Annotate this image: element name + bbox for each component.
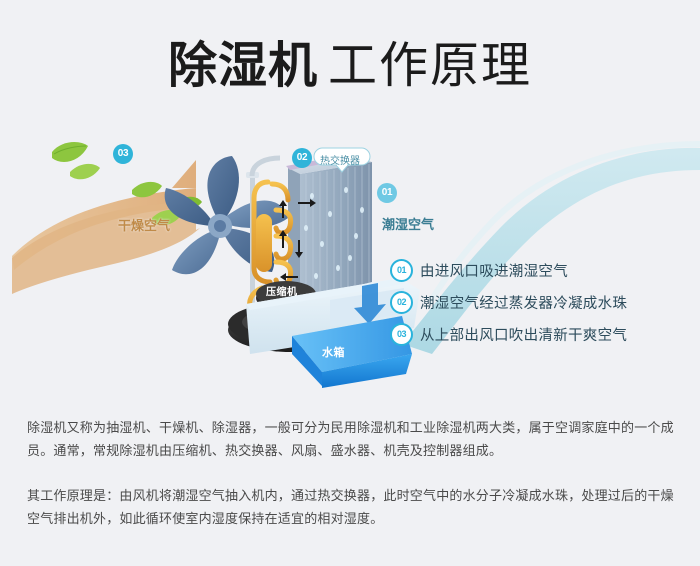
list-item: 01 由进风口吸进潮湿空气 [390,254,680,286]
heat-exchanger-block [288,156,372,300]
legend-text-02: 潮湿空气经过蒸发器冷凝成水珠 [420,292,627,313]
legend-list: 01 由进风口吸进潮湿空气 02 潮湿空气经过蒸发器冷凝成水珠 03 从上部出风… [390,254,680,350]
paragraph-1: 除湿机又称为抽湿机、干燥机、除湿器，一般可分为民用除湿机和工业除湿机两大类，属于… [27,416,677,462]
legend-badge-01: 01 [390,259,413,282]
description-section: 除湿机又称为抽湿机、干燥机、除湿器，一般可分为民用除湿机和工业除湿机两大类，属于… [27,416,677,530]
label-heat-exchanger: 热交换器 [320,152,360,167]
label-water-tank: 水箱 [322,344,345,360]
list-item: 02 潮湿空气经过蒸发器冷凝成水珠 [390,286,680,318]
diagram-badge-02: 02 [292,148,312,168]
diagram-badge-03: 03 [113,144,133,164]
list-item: 03 从上部出风口吹出清新干爽空气 [390,318,680,350]
label-compressor: 压缩机 [266,283,298,298]
page-title-light: 工作原理 [328,39,532,93]
page-title-bold: 除湿机 [168,39,318,93]
paragraph-2: 其工作原理是：由风机将潮湿空气抽入机内，通过热交换器，此时空气中的水分子冷凝成水… [27,484,677,530]
page-title: 除湿机工作原理 [0,26,700,97]
legend-badge-03: 03 [390,323,413,346]
label-dry-air: 干燥空气 [118,215,170,234]
legend-text-03: 从上部出风口吹出清新干爽空气 [420,324,627,345]
legend-badge-02: 02 [390,291,413,314]
diagram-badge-01: 01 [377,183,397,203]
label-humid-air: 潮湿空气 [382,214,434,233]
legend-text-01: 由进风口吸进潮湿空气 [420,260,568,281]
